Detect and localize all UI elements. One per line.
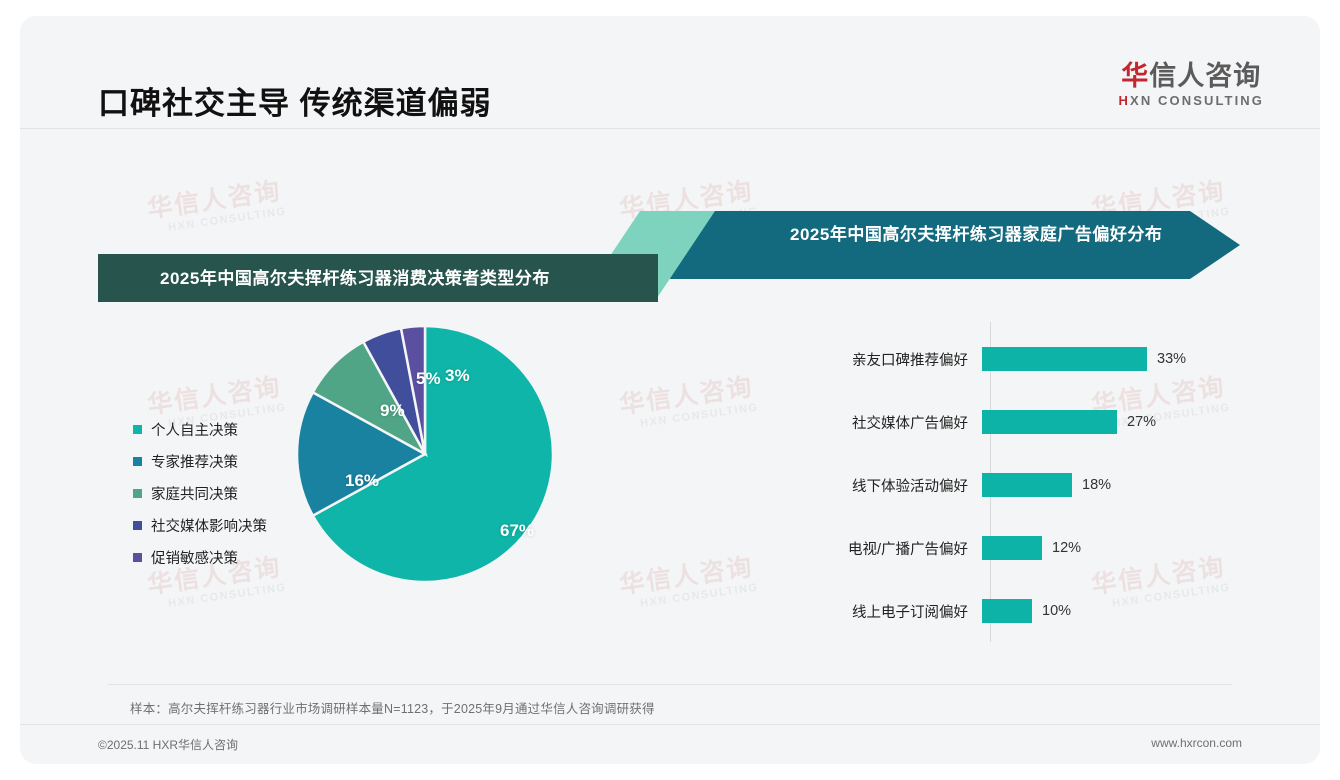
- footnote-divider: [108, 684, 1232, 685]
- brand-logo: 华信人咨询 HXN CONSULTING: [1119, 62, 1264, 108]
- legend-swatch-icon: [133, 521, 142, 530]
- logo-cn-text: 华信人咨询: [1119, 62, 1264, 90]
- bar-category-label: 线上电子订阅偏好: [720, 601, 982, 622]
- legend-swatch-icon: [133, 425, 142, 434]
- bar-row[interactable]: 电视/广播广告偏好 12%: [720, 533, 1280, 563]
- footer-website[interactable]: www.hxrcon.com: [1151, 736, 1242, 750]
- legend-label: 个人自主决策: [151, 419, 238, 440]
- legend-item[interactable]: 个人自主决策: [133, 421, 267, 437]
- legend-label: 家庭共同决策: [151, 483, 238, 504]
- watermark: 华信人咨询 HXN CONSULTING: [146, 179, 287, 237]
- pie-graphic: [295, 324, 555, 584]
- logo-en-text: HXN CONSULTING: [1119, 93, 1264, 108]
- logo-cn-rest: 信人咨询: [1149, 61, 1261, 91]
- legend-item[interactable]: 社交媒体影响决策: [133, 517, 267, 533]
- legend-swatch-icon: [133, 553, 142, 562]
- watermark-en: HXN CONSULTING: [640, 205, 760, 233]
- bar-category-label: 社交媒体广告偏好: [720, 412, 982, 433]
- legend-item[interactable]: 家庭共同决策: [133, 485, 267, 501]
- bar-fill: [982, 410, 1117, 434]
- footnote: 样本：高尔夫挥杆练习器行业市场调研样本量N=1123，于2025年9月通过华信人…: [130, 698, 655, 717]
- pie-value-label: 16%: [345, 471, 379, 491]
- slide-canvas: 华信人咨询 HXN CONSULTING 华信人咨询 HXN CONSULTIN…: [20, 16, 1320, 764]
- footer-divider: [20, 724, 1320, 725]
- bar-value-label: 27%: [1127, 414, 1156, 430]
- page-title: 口碑社交主导 传统渠道偏弱: [98, 78, 492, 123]
- logo-cn-first-char: 华: [1121, 61, 1149, 91]
- legend-swatch-icon: [133, 457, 142, 466]
- legend-swatch-icon: [133, 489, 142, 498]
- watermark-cn: 华信人咨询: [146, 179, 285, 223]
- bar-fill: [982, 473, 1072, 497]
- pie-value-label: 67%: [500, 521, 534, 541]
- bar-chart: 亲友口碑推荐偏好 33% 社交媒体广告偏好 27% 线下体验活动偏好 18% 电…: [720, 316, 1280, 656]
- watermark-cn: 华信人咨询: [1090, 179, 1229, 223]
- bar-value-label: 10%: [1042, 603, 1071, 619]
- watermark: 华信人咨询 HXN CONSULTING: [618, 179, 759, 237]
- pie-value-label: 9%: [380, 401, 405, 421]
- pie-chart: 个人自主决策 专家推荐决策 家庭共同决策 社交媒体影响决策 促销敏感决策 67%: [80, 316, 660, 656]
- banner-right-title: 2025年中国高尔夫挥杆练习器家庭广告偏好分布: [790, 220, 1162, 245]
- bar-fill: [982, 347, 1147, 371]
- banner-connector-shape: [580, 211, 715, 301]
- header-divider: [20, 128, 1320, 129]
- legend-label: 促销敏感决策: [151, 547, 238, 568]
- bar-fill: [982, 599, 1032, 623]
- bar-value-label: 18%: [1082, 477, 1111, 493]
- pie-legend: 个人自主决策 专家推荐决策 家庭共同决策 社交媒体影响决策 促销敏感决策: [133, 421, 267, 581]
- watermark-cn: 华信人咨询: [618, 179, 757, 223]
- legend-item[interactable]: 专家推荐决策: [133, 453, 267, 469]
- bar-value-label: 33%: [1157, 351, 1186, 367]
- footer-copyright: ©2025.11 HXR华信人咨询: [98, 736, 238, 753]
- bar-row[interactable]: 线上电子订阅偏好 10%: [720, 596, 1280, 626]
- bar-category-label: 线下体验活动偏好: [720, 475, 982, 496]
- logo-en-first-char: H: [1119, 93, 1131, 108]
- logo-en-rest: XN CONSULTING: [1130, 93, 1264, 108]
- bar-value-label: 12%: [1052, 540, 1081, 556]
- bar-row[interactable]: 社交媒体广告偏好 27%: [720, 407, 1280, 437]
- bar-category-label: 电视/广播广告偏好: [720, 538, 982, 559]
- bar-fill: [982, 536, 1042, 560]
- pie-value-label: 3%: [445, 366, 470, 386]
- legend-item[interactable]: 促销敏感决策: [133, 549, 267, 565]
- bar-row[interactable]: 亲友口碑推荐偏好 33%: [720, 344, 1280, 374]
- pie-value-label: 5%: [416, 369, 441, 389]
- banner-left-title: 2025年中国高尔夫挥杆练习器消费决策者类型分布: [160, 264, 550, 289]
- legend-label: 专家推荐决策: [151, 451, 238, 472]
- bar-category-label: 亲友口碑推荐偏好: [720, 349, 982, 370]
- bar-row[interactable]: 线下体验活动偏好 18%: [720, 470, 1280, 500]
- watermark-en: HXN CONSULTING: [168, 205, 288, 233]
- legend-label: 社交媒体影响决策: [151, 515, 267, 536]
